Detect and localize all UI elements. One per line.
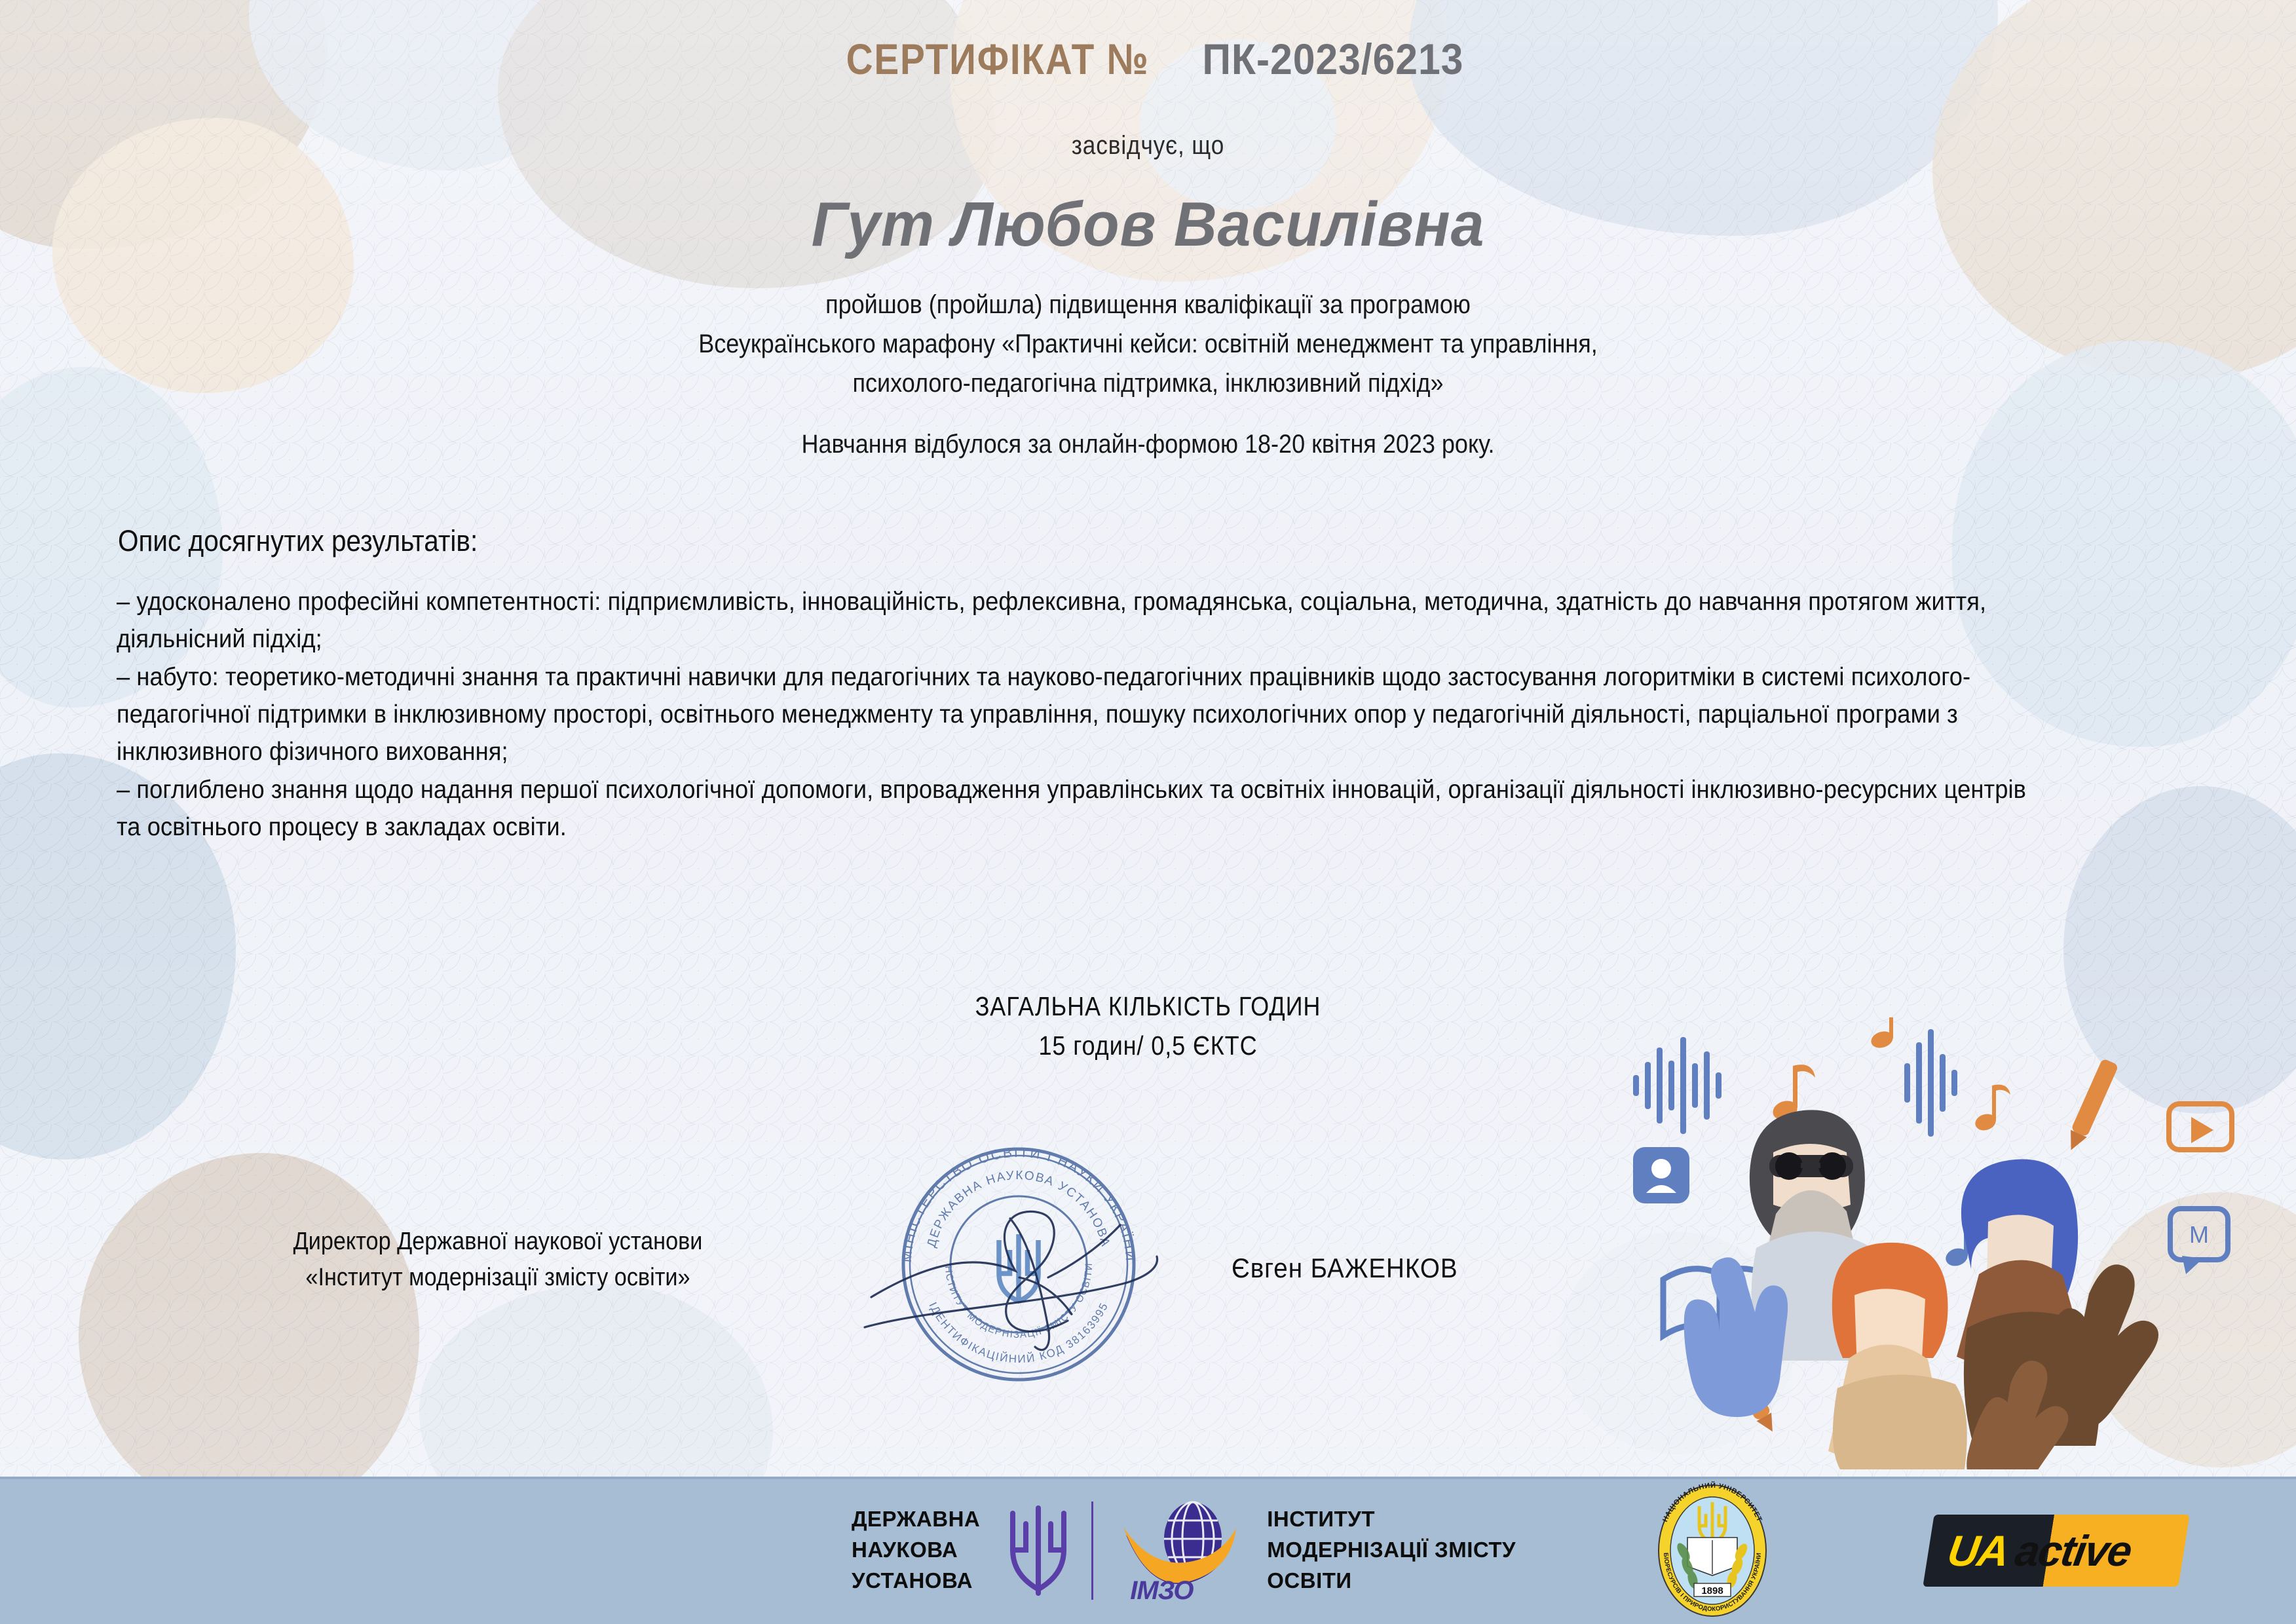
imzo-line-2: МОДЕРНІЗАЦІЇ ЗМІСТУ bbox=[1267, 1535, 1516, 1566]
imzo-text-block: ІНСТИТУТ МОДЕРНІЗАЦІЇ ЗМІСТУ ОСВІТИ bbox=[1267, 1504, 1516, 1596]
seal-year: 1898 bbox=[1701, 1585, 1723, 1596]
people-illustration: M bbox=[1621, 1017, 2289, 1469]
uaactive-ua-text: UA bbox=[1944, 1526, 2012, 1576]
signature-role-line-1: Директор Державної наукової установи bbox=[203, 1224, 793, 1260]
result-item: – удосконалено професійні компетентності… bbox=[117, 583, 2048, 658]
certifies-label: засвідчує, що bbox=[138, 131, 2158, 161]
imzo-line-1: ІНСТИТУТ bbox=[1267, 1504, 1516, 1535]
signature-role-line-2: «Інститут модернізації змісту освіти» bbox=[203, 1260, 793, 1296]
footer-bar: ДЕРЖАВНА НАУКОВА УСТАНОВА bbox=[0, 1477, 2296, 1624]
signature-role: Директор Державної наукової установи «Ін… bbox=[203, 1224, 793, 1296]
footer-vertical-divider bbox=[1091, 1501, 1093, 1600]
sound-wave-icon bbox=[1633, 1037, 1722, 1134]
music-note-icon bbox=[1869, 1017, 1895, 1051]
nubip-seal-logo: НАЦІОНАЛЬНИЙ УНІВЕРСИТЕТ БІОРЕСУРСІВ І П… bbox=[1647, 1480, 1778, 1621]
message-icon: M bbox=[2170, 1209, 2228, 1274]
handwritten-signature bbox=[852, 1199, 1179, 1356]
footer-divider bbox=[0, 1477, 2296, 1479]
result-item: – набуто: теоретико-методичні знання та … bbox=[117, 658, 2048, 771]
imzo-logo: ІМЗО bbox=[1122, 1498, 1250, 1603]
music-note-icon bbox=[1973, 1085, 2010, 1133]
uaactive-active-text: active bbox=[2012, 1526, 2134, 1576]
video-play-icon bbox=[2169, 1104, 2232, 1150]
signatory-name: Євген БАЖЕНКОВ bbox=[1232, 1253, 1458, 1284]
dnu-line-2: НАУКОВА bbox=[852, 1535, 980, 1566]
program-line-3: психолого-педагогічна підтримка, інклюзи… bbox=[115, 367, 2181, 400]
results-heading: Опис досягнутих результатів: bbox=[118, 524, 478, 558]
dnu-line-1: ДЕРЖАВНА bbox=[852, 1504, 980, 1535]
certificate-title: СЕРТИФІКАТ № bbox=[846, 34, 1149, 84]
imzo-abbr: ІМЗО bbox=[1130, 1576, 1193, 1606]
program-line-2: Всеукраїнського марафону «Практичні кейс… bbox=[115, 328, 2181, 361]
uaactive-logo: UA active bbox=[1923, 1515, 2189, 1587]
program-line-1: пройшов (пройшла) підвищення кваліфікаці… bbox=[115, 288, 2181, 322]
pencil-icon bbox=[2063, 1058, 2119, 1154]
user-badge-icon bbox=[1633, 1147, 1689, 1203]
certificate-page: СЕРТИФІКАТ №ПК-2023/6213 засвідчує, що Г… bbox=[0, 0, 2296, 1624]
results-body: – удосконалено професійні компетентності… bbox=[117, 583, 2048, 846]
result-item: – поглиблено знання щодо надання першої … bbox=[117, 771, 2048, 846]
certificate-title-row: СЕРТИФІКАТ №ПК-2023/6213 bbox=[0, 34, 2296, 84]
dnu-line-3: УСТАНОВА bbox=[852, 1566, 980, 1596]
imzo-line-3: ОСВІТИ bbox=[1267, 1566, 1516, 1596]
svg-text:M: M bbox=[2189, 1221, 2209, 1248]
sound-wave-icon bbox=[1904, 1029, 1957, 1137]
person-front-orange bbox=[1828, 1243, 1967, 1469]
certificate-number: ПК-2023/6213 bbox=[1202, 34, 1463, 84]
program-dates-line: Навчання відбулося за онлайн-формою 18-2… bbox=[115, 428, 2181, 461]
recipient-name: Гут Любов Василівна bbox=[58, 189, 2239, 261]
tryzub-icon bbox=[1002, 1501, 1074, 1600]
dnu-text-block: ДЕРЖАВНА НАУКОВА УСТАНОВА bbox=[852, 1504, 980, 1596]
